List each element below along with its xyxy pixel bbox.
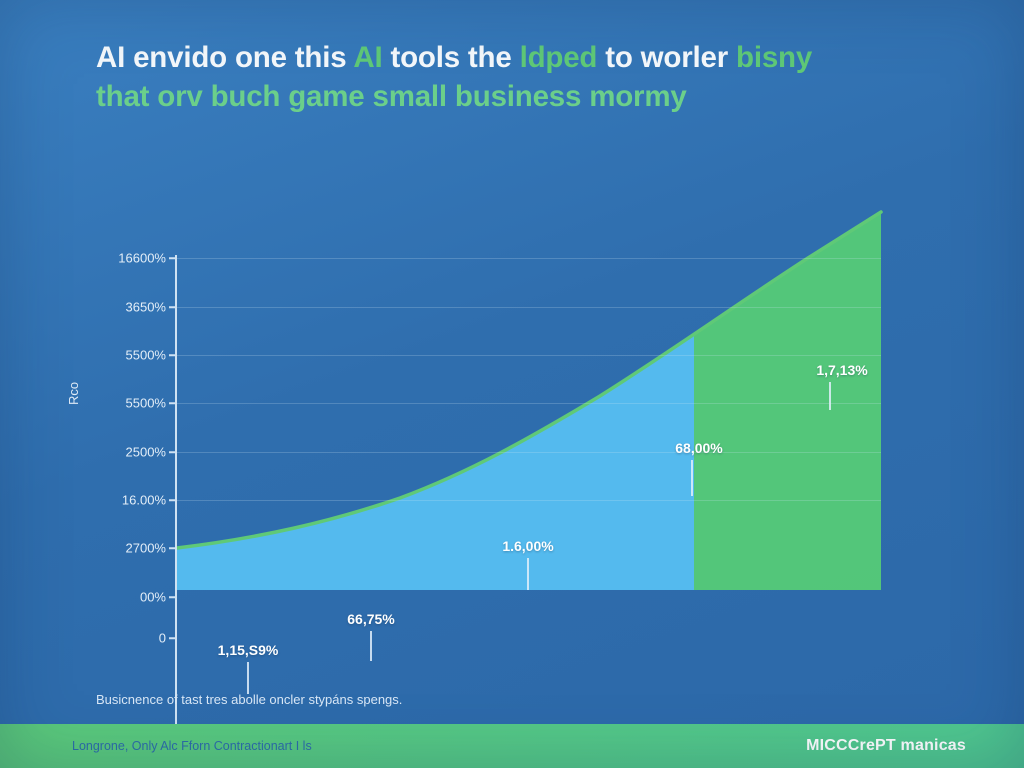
- footer-brand: MICCCrePT manicas: [806, 737, 966, 755]
- page-title: AI envido one this AI tools the ldped to…: [96, 38, 946, 116]
- title-seg-2: AI: [353, 41, 382, 74]
- gridline: [177, 500, 881, 501]
- title-line-2: that orv buch game small business mormy: [96, 77, 946, 116]
- footer-bar: Longrone, Only Alc Fforn Contractionart …: [0, 724, 1024, 768]
- y-tick-mark: [169, 402, 177, 404]
- y-tick-group: 16600% 3650% 5500% 5500% 2500% 16.00% 27…: [0, 150, 166, 670]
- y-tick-mark: [169, 637, 177, 639]
- y-tick-mark: [169, 354, 177, 356]
- y-tick-mark: [169, 547, 177, 549]
- y-tick-mark: [169, 499, 177, 501]
- y-tick-label: 2500%: [126, 445, 166, 460]
- y-tick-label: 5500%: [126, 396, 166, 411]
- data-point-stem: [691, 460, 693, 496]
- title-line-1: AI envido one this AI tools the ldped to…: [96, 38, 946, 77]
- title-seg-1: AI envido one this: [96, 41, 353, 74]
- gridline: [177, 258, 881, 259]
- data-point-label: 68,00%: [675, 440, 722, 456]
- chart: Rco 16600% 3650% 5500% 5500% 2500% 16.00…: [0, 150, 1024, 670]
- title-seg-3: tools the: [382, 41, 519, 74]
- gridline: [177, 355, 881, 356]
- y-tick-label: 2700%: [126, 541, 166, 556]
- slide-canvas: AI envido one this AI tools the ldped to…: [0, 0, 1024, 768]
- y-tick-label: 16.00%: [122, 493, 166, 508]
- data-point-label: 66,75%: [347, 611, 394, 627]
- footer-left-text: Longrone, Only Alc Fforn Contractionart …: [72, 739, 312, 753]
- gridline: [177, 403, 881, 404]
- y-tick-mark: [169, 451, 177, 453]
- data-point-stem: [247, 662, 249, 694]
- gridline: [177, 307, 881, 308]
- y-tick-label: 0: [159, 631, 166, 646]
- gridline: [177, 452, 881, 453]
- data-point-stem: [527, 558, 529, 590]
- title-seg-5: to worler: [597, 41, 736, 74]
- title-seg-4: ldped: [520, 41, 598, 74]
- y-tick-mark: [169, 257, 177, 259]
- y-tick-label: 3650%: [126, 300, 166, 315]
- y-tick-label: 5500%: [126, 348, 166, 363]
- chart-caption: Busicnence of tast tres abolle oncler st…: [96, 692, 402, 707]
- y-tick-mark: [169, 596, 177, 598]
- data-point-label: 1,7,13%: [816, 362, 867, 378]
- data-point-label: 1,15,S9%: [218, 642, 279, 658]
- data-point-label: 1.6,00%: [502, 538, 553, 554]
- y-tick-label: 00%: [140, 590, 166, 605]
- title-seg-7: that orv buch game small business mormy: [96, 80, 687, 113]
- data-point-stem: [829, 382, 831, 410]
- title-seg-6: bisny: [736, 41, 812, 74]
- y-axis: [175, 255, 177, 740]
- data-point-stem: [370, 631, 372, 661]
- y-tick-mark: [169, 306, 177, 308]
- y-tick-label: 16600%: [118, 251, 166, 266]
